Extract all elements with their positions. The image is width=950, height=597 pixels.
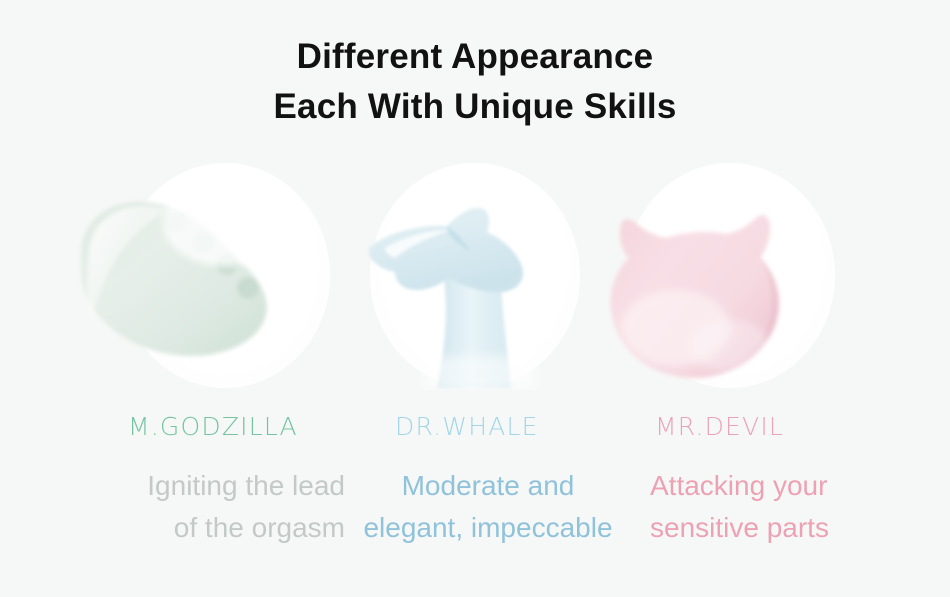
description-line-2: elegant, impeccable: [338, 507, 638, 549]
product-label-godzilla: M.GODZILLA: [128, 412, 298, 441]
product-description-whale: Moderate and elegant, impeccable: [338, 465, 638, 549]
product-label-whale: DR.WHALE: [395, 412, 539, 441]
product-description-devil: Attacking your sensitive parts: [650, 465, 950, 549]
description-line-1: Igniting the lead: [0, 465, 345, 507]
page-title: Different Appearance Each With Unique Sk…: [0, 32, 950, 131]
description-line-2: of the orgasm: [0, 507, 345, 549]
product-label-devil: MR.DEVIL: [655, 412, 784, 441]
page-title-line-1: Different Appearance: [0, 32, 950, 82]
promo-banner: Different Appearance Each With Unique Sk…: [0, 0, 950, 597]
description-line-2: sensitive parts: [650, 507, 950, 549]
product-description-godzilla: Igniting the lead of the orgasm: [0, 465, 345, 549]
page-title-line-2: Each With Unique Skills: [0, 82, 950, 132]
product-image-row: [0, 160, 950, 390]
product-label-row: M.GODZILLA DR.WHALE MR.DEVIL: [0, 412, 950, 462]
product-description-row: Igniting the lead of the orgasm Moderate…: [0, 465, 950, 555]
description-line-1: Attacking your: [650, 465, 950, 507]
description-line-1: Moderate and: [338, 465, 638, 507]
devil-horned-head-product-image: [580, 160, 880, 390]
product-image-devil: [580, 160, 880, 390]
